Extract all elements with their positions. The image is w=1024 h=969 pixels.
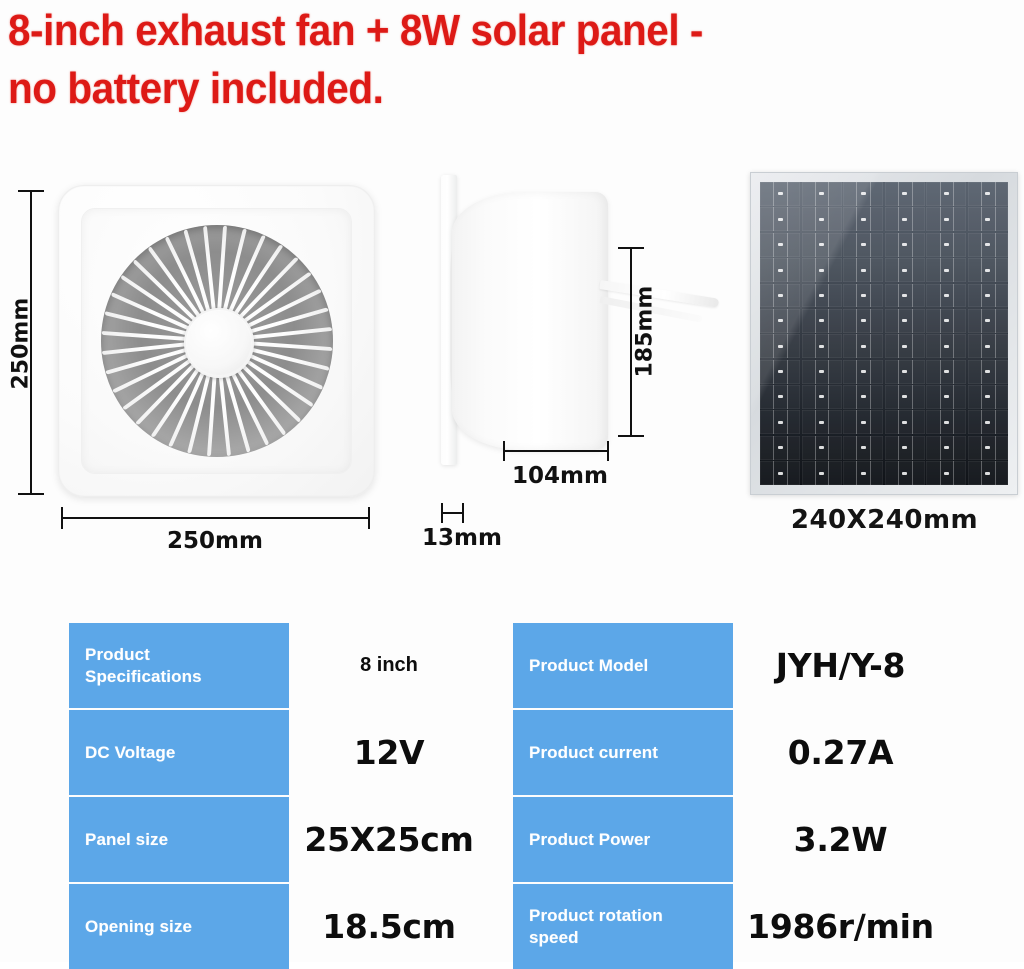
solar-cell <box>926 284 966 308</box>
solar-cell <box>802 385 842 409</box>
solar-cell <box>968 436 1008 460</box>
dimension-tick-width-right <box>368 507 370 529</box>
solar-cell-contact-dot <box>902 243 907 246</box>
solar-panel-cell-grid <box>760 182 1008 485</box>
solar-cell <box>968 360 1008 384</box>
dimension-label-width: 250mm <box>0 528 430 554</box>
solar-cell-contact-dot <box>985 345 990 348</box>
solar-cell <box>843 360 883 384</box>
spec-label: Opening size <box>69 884 289 969</box>
solar-cell-contact-dot <box>778 192 783 195</box>
solar-cell <box>843 385 883 409</box>
solar-cell-contact-dot <box>861 395 866 398</box>
solar-cell-contact-dot <box>861 319 866 322</box>
solar-cell <box>760 207 800 231</box>
solar-cell-contact-dot <box>902 319 907 322</box>
solar-cell-contact-dot <box>819 319 824 322</box>
solar-cell <box>968 385 1008 409</box>
solar-cell-contact-dot <box>985 192 990 195</box>
solar-cell-contact-dot <box>778 370 783 373</box>
solar-cell <box>926 334 966 358</box>
dimension-label-height: 250mm <box>9 300 34 390</box>
solar-cell <box>802 258 842 282</box>
specifications-table: Product Specifications8 inchDC Voltage12… <box>0 610 1024 962</box>
solar-cell <box>885 436 925 460</box>
solar-cell-contact-dot <box>985 472 990 475</box>
solar-cell <box>926 233 966 257</box>
solar-cell-contact-dot <box>902 446 907 449</box>
solar-cell-contact-dot <box>944 192 949 195</box>
solar-cell-contact-dot <box>985 269 990 272</box>
solar-cell <box>885 461 925 485</box>
solar-cell <box>760 284 800 308</box>
solar-cell-contact-dot <box>985 421 990 424</box>
dimension-tick-width-left <box>61 507 63 529</box>
solar-cell-contact-dot <box>778 294 783 297</box>
spec-value: 3.2W <box>733 797 948 882</box>
dimension-label-depth: 185mm <box>633 288 658 378</box>
spec-row: Product Specifications8 inch <box>0 623 512 708</box>
solar-cell <box>802 233 842 257</box>
solar-cell <box>968 309 1008 333</box>
solar-cell-contact-dot <box>985 319 990 322</box>
solar-cell <box>885 284 925 308</box>
solar-cell-contact-dot <box>819 269 824 272</box>
solar-cell <box>802 360 842 384</box>
dimension-label-barrel: 104mm <box>460 463 660 489</box>
solar-cell-contact-dot <box>944 294 949 297</box>
solar-cell <box>843 233 883 257</box>
solar-cell <box>968 284 1008 308</box>
solar-cell <box>843 258 883 282</box>
solar-cell <box>968 461 1008 485</box>
solar-cell <box>843 334 883 358</box>
dimension-line-barrel-horizontal <box>503 450 609 452</box>
dimension-line-width-horizontal <box>61 517 370 519</box>
solar-cell <box>926 385 966 409</box>
solar-cell <box>802 410 842 434</box>
solar-cell-contact-dot <box>819 395 824 398</box>
solar-cell <box>968 233 1008 257</box>
fan-barrel-body <box>452 192 608 450</box>
solar-cell <box>802 284 842 308</box>
solar-cell-contact-dot <box>902 192 907 195</box>
solar-cell-contact-dot <box>861 446 866 449</box>
spec-label: Panel size <box>69 797 289 882</box>
solar-cell <box>802 207 842 231</box>
fan-blade-disc <box>101 225 333 457</box>
solar-cell-contact-dot <box>819 243 824 246</box>
solar-cell <box>926 436 966 460</box>
solar-cell-contact-dot <box>819 446 824 449</box>
solar-cell <box>968 207 1008 231</box>
solar-cell <box>968 182 1008 206</box>
solar-cell-contact-dot <box>944 472 949 475</box>
solar-cell <box>760 182 800 206</box>
solar-cell-contact-dot <box>778 345 783 348</box>
solar-cell-contact-dot <box>902 395 907 398</box>
solar-cell-contact-dot <box>902 421 907 424</box>
solar-cell <box>802 436 842 460</box>
solar-cell-contact-dot <box>944 218 949 221</box>
spec-label: Product Power <box>513 797 733 882</box>
dimension-tick-flange-left <box>441 503 443 523</box>
solar-cell <box>926 461 966 485</box>
spec-column-left: Product Specifications8 inchDC Voltage12… <box>0 610 512 962</box>
solar-cell-contact-dot <box>819 192 824 195</box>
solar-cell <box>760 461 800 485</box>
solar-cell <box>926 309 966 333</box>
spec-column-right: Product ModelJYH/Y-8Product current0.27A… <box>444 610 956 962</box>
solar-cell <box>843 410 883 434</box>
fan-housing <box>58 185 375 497</box>
solar-cell-contact-dot <box>861 192 866 195</box>
solar-cell-contact-dot <box>902 472 907 475</box>
solar-cell-contact-dot <box>778 395 783 398</box>
dimension-line-flange-horizontal <box>441 512 464 514</box>
solar-cell-contact-dot <box>861 370 866 373</box>
solar-cell-contact-dot <box>985 370 990 373</box>
solar-cell <box>760 436 800 460</box>
dimension-tick-barrel-right <box>607 441 609 461</box>
fan-inner-panel <box>81 208 352 474</box>
spec-row: DC Voltage12V <box>0 710 512 795</box>
solar-cell-contact-dot <box>778 446 783 449</box>
solar-cell-contact-dot <box>778 472 783 475</box>
solar-cell-contact-dot <box>902 294 907 297</box>
spec-value: 1986r/min <box>733 884 948 969</box>
solar-cell <box>760 385 800 409</box>
solar-cell <box>926 207 966 231</box>
solar-cell-contact-dot <box>778 421 783 424</box>
solar-cell <box>843 309 883 333</box>
solar-cell-contact-dot <box>902 218 907 221</box>
solar-cell <box>926 360 966 384</box>
solar-cell <box>760 233 800 257</box>
solar-cell <box>885 233 925 257</box>
solar-cell <box>760 258 800 282</box>
solar-cell <box>760 334 800 358</box>
solar-cell-contact-dot <box>944 395 949 398</box>
solar-cell <box>843 182 883 206</box>
solar-cell <box>885 258 925 282</box>
solar-cell-contact-dot <box>944 345 949 348</box>
spec-row: Product current0.27A <box>444 710 956 795</box>
solar-cell-contact-dot <box>819 370 824 373</box>
solar-cell-contact-dot <box>944 421 949 424</box>
solar-cell <box>926 410 966 434</box>
solar-cell-contact-dot <box>902 345 907 348</box>
solar-cell-contact-dot <box>861 472 866 475</box>
solar-cell-contact-dot <box>902 269 907 272</box>
solar-cell-contact-dot <box>778 319 783 322</box>
solar-cell-contact-dot <box>861 421 866 424</box>
front-view-exhaust-fan: 250mm 250mm <box>0 150 400 570</box>
solar-cell-contact-dot <box>944 446 949 449</box>
dimension-tick-depth-top <box>618 247 644 249</box>
solar-cell <box>885 309 925 333</box>
solar-cell <box>802 461 842 485</box>
spec-label: Product Specifications <box>69 623 289 708</box>
solar-cell <box>926 182 966 206</box>
dimension-tick-height-bottom <box>18 493 44 495</box>
solar-cell <box>802 182 842 206</box>
spec-row: Product ModelJYH/Y-8 <box>444 623 956 708</box>
dimension-tick-height-top <box>18 190 44 192</box>
solar-cell-contact-dot <box>819 421 824 424</box>
spec-row: Opening size18.5cm <box>0 884 512 969</box>
solar-cell <box>885 334 925 358</box>
solar-cell-contact-dot <box>819 294 824 297</box>
solar-panel-frame <box>750 172 1018 495</box>
solar-cell <box>760 410 800 434</box>
solar-cell-contact-dot <box>944 243 949 246</box>
solar-cell <box>760 309 800 333</box>
solar-cell-contact-dot <box>944 370 949 373</box>
solar-cell-contact-dot <box>861 345 866 348</box>
solar-cell <box>802 309 842 333</box>
spec-row: Panel size25X25cm <box>0 797 512 882</box>
spec-value: JYH/Y-8 <box>733 623 948 708</box>
solar-cell-contact-dot <box>861 269 866 272</box>
spec-label: DC Voltage <box>69 710 289 795</box>
solar-cell <box>885 410 925 434</box>
solar-cell <box>843 284 883 308</box>
solar-cell <box>802 334 842 358</box>
solar-cell-contact-dot <box>778 218 783 221</box>
solar-cell-contact-dot <box>861 218 866 221</box>
solar-cell-contact-dot <box>985 395 990 398</box>
solar-cell <box>843 436 883 460</box>
solar-cell-contact-dot <box>819 345 824 348</box>
page-headline: 8-inch exhaust fan + 8W solar panel - no… <box>8 2 937 118</box>
solar-cell <box>885 360 925 384</box>
solar-cell-contact-dot <box>819 218 824 221</box>
solar-cell-contact-dot <box>861 243 866 246</box>
solar-cell <box>885 182 925 206</box>
solar-cell-contact-dot <box>944 319 949 322</box>
solar-cell <box>885 207 925 231</box>
solar-cell-contact-dot <box>819 472 824 475</box>
dimension-tick-flange-right <box>462 503 464 523</box>
solar-cell-contact-dot <box>944 269 949 272</box>
solar-cell <box>843 207 883 231</box>
solar-panel-size-caption: 240X240mm <box>745 505 1024 535</box>
solar-cell-contact-dot <box>985 243 990 246</box>
solar-cell <box>885 385 925 409</box>
solar-cell <box>926 258 966 282</box>
solar-cell <box>968 410 1008 434</box>
solar-cell <box>843 461 883 485</box>
solar-cell-contact-dot <box>778 269 783 272</box>
solar-cell <box>760 360 800 384</box>
spec-label: Product Model <box>513 623 733 708</box>
spec-value: 0.27A <box>733 710 948 795</box>
solar-cell-contact-dot <box>985 446 990 449</box>
spec-label: Product rotation speed <box>513 884 733 969</box>
solar-cell-contact-dot <box>861 294 866 297</box>
solar-cell <box>968 258 1008 282</box>
dimension-tick-barrel-left <box>503 441 505 461</box>
product-views-row: 250mm 250mm 185mm 10 <box>0 150 1024 570</box>
spec-row: Product Power3.2W <box>444 797 956 882</box>
fan-center-hub <box>184 308 254 378</box>
dimension-label-flange: 13mm <box>382 525 542 551</box>
spec-row: Product rotation speed1986r/min <box>444 884 956 969</box>
side-view-exhaust-fan: 185mm 104mm 13mm <box>400 150 745 570</box>
solar-cell-contact-dot <box>985 218 990 221</box>
solar-cell-contact-dot <box>778 243 783 246</box>
solar-panel-view: 240X240mm <box>745 150 1024 570</box>
spec-label: Product current <box>513 710 733 795</box>
solar-cell-contact-dot <box>985 294 990 297</box>
solar-cell-contact-dot <box>902 370 907 373</box>
solar-cell <box>968 334 1008 358</box>
dimension-tick-depth-bottom <box>618 435 644 437</box>
